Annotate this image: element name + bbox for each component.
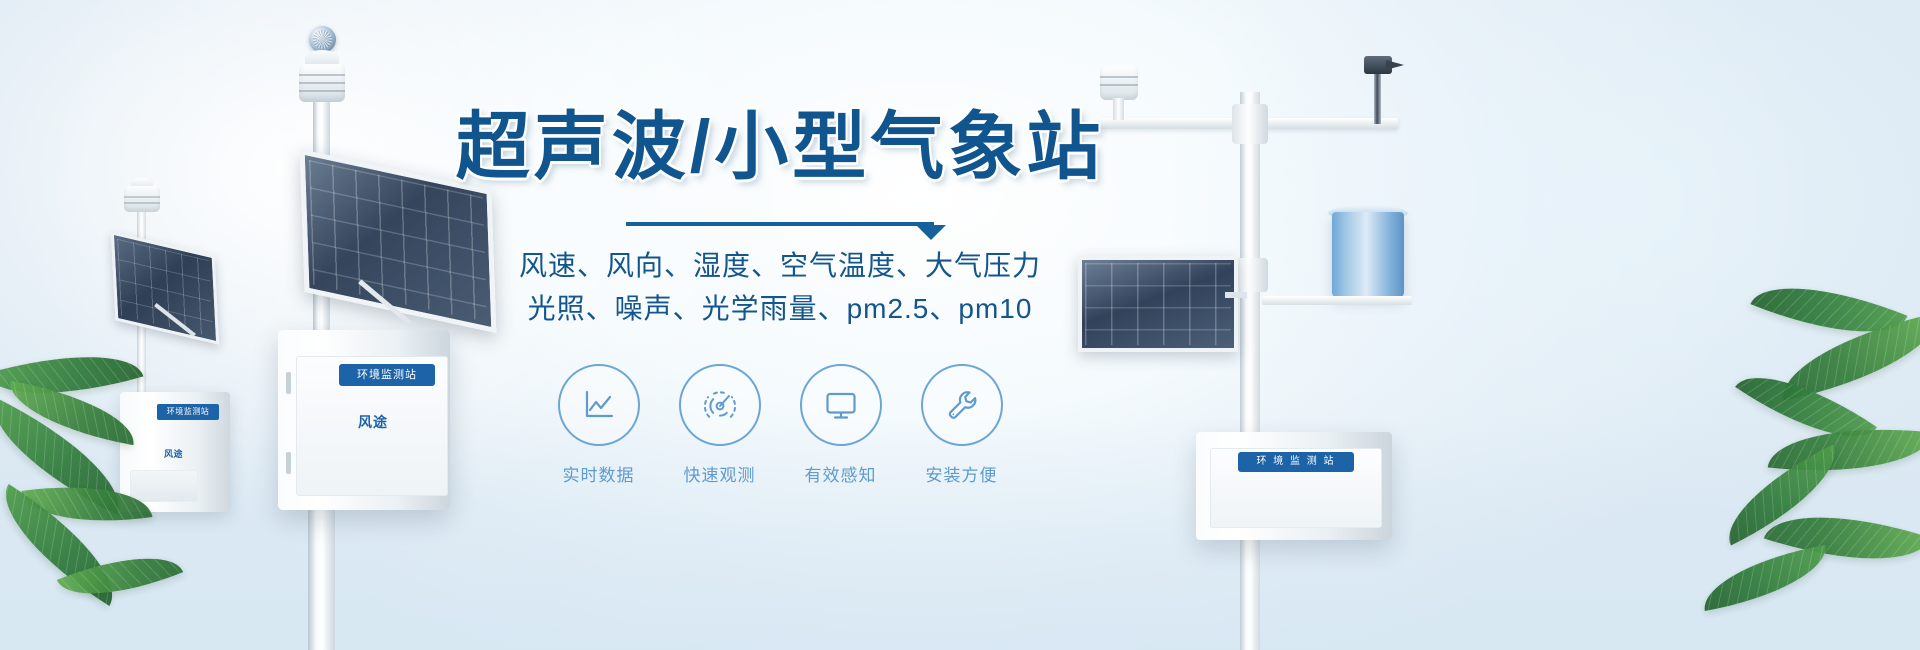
feature-label: 有效感知: [800, 461, 882, 486]
shield-louver-line: [1100, 84, 1138, 86]
shield-louver-line: [299, 90, 345, 92]
shield-louver-line: [124, 202, 160, 204]
feature-list: 实时数据 快速观测: [440, 364, 1120, 486]
solar-panel-arm: [1225, 292, 1247, 298]
mast-pole-right: [1240, 92, 1260, 650]
shield-louver-line: [299, 74, 345, 76]
banner-content: 超声波/小型气象站 风速、风向、湿度、空气温度、大气压力 光照、噪声、光学雨量、…: [440, 108, 1120, 486]
cabinet-nameplate-right: 环 境 监 测 站: [1238, 452, 1354, 472]
brand-logo-text: 风途: [164, 449, 183, 459]
feature-label: 快速观测: [679, 461, 761, 486]
ultrasonic-sensor-icon: [1100, 66, 1138, 100]
monitor-icon: [800, 364, 882, 446]
product-banner: 环境监测站 风途 环境监测站 风途: [0, 0, 1920, 650]
title-divider: [626, 222, 934, 226]
page-title: 超声波/小型气象站: [440, 108, 1120, 186]
feature-item-easy-installation[interactable]: 安装方便: [921, 364, 1003, 486]
feature-label: 实时数据: [558, 461, 640, 486]
feature-label: 安装方便: [921, 461, 1003, 486]
shield-louver-line: [299, 82, 345, 84]
cabinet-nameplate-text: 环 境 监 测 站: [1238, 452, 1354, 472]
brand-logo-small: 风途: [164, 444, 212, 456]
cabinet-vent-small: [130, 470, 198, 502]
brand-logo-text: 风途: [358, 414, 388, 430]
radar-scan-icon: [679, 364, 761, 446]
feature-item-quick-observation[interactable]: 快速观测: [679, 364, 761, 486]
cabinet-hinge: [286, 452, 291, 474]
feature-item-realtime-data[interactable]: 实时数据: [558, 364, 640, 486]
dome-sensor-icon: [309, 26, 336, 53]
equipment-shelf: [1262, 296, 1412, 305]
cabinet-hinge: [286, 372, 291, 394]
wrench-icon: [921, 364, 1003, 446]
feature-item-effective-sensing[interactable]: 有效感知: [800, 364, 882, 486]
cabinet-nameplate-text: 环境监测站: [157, 404, 219, 420]
line-chart-icon: [558, 364, 640, 446]
cabinet-nameplate-tall: 环境监测站: [339, 364, 435, 386]
cabinet-nameplate-small: 环境监测站: [157, 404, 219, 420]
subtitle-block: 风速、风向、湿度、空气温度、大气压力 光照、噪声、光学雨量、pm2.5、pm10: [440, 244, 1120, 331]
brand-logo-tall: 风途: [358, 412, 388, 432]
subtitle-line-2: 光照、噪声、光学雨量、pm2.5、pm10: [440, 287, 1120, 330]
mast-collar: [1232, 104, 1268, 144]
cabinet-nameplate-text: 环境监测站: [339, 364, 435, 386]
triangle-down-icon: [916, 225, 946, 240]
shield-louver-line: [124, 196, 160, 198]
rain-gauge-icon: [1332, 212, 1404, 298]
subtitle-line-1: 风速、风向、湿度、空气温度、大气压力: [440, 244, 1120, 287]
shield-louver-line: [1100, 76, 1138, 78]
radiation-shield-small: [124, 186, 160, 212]
